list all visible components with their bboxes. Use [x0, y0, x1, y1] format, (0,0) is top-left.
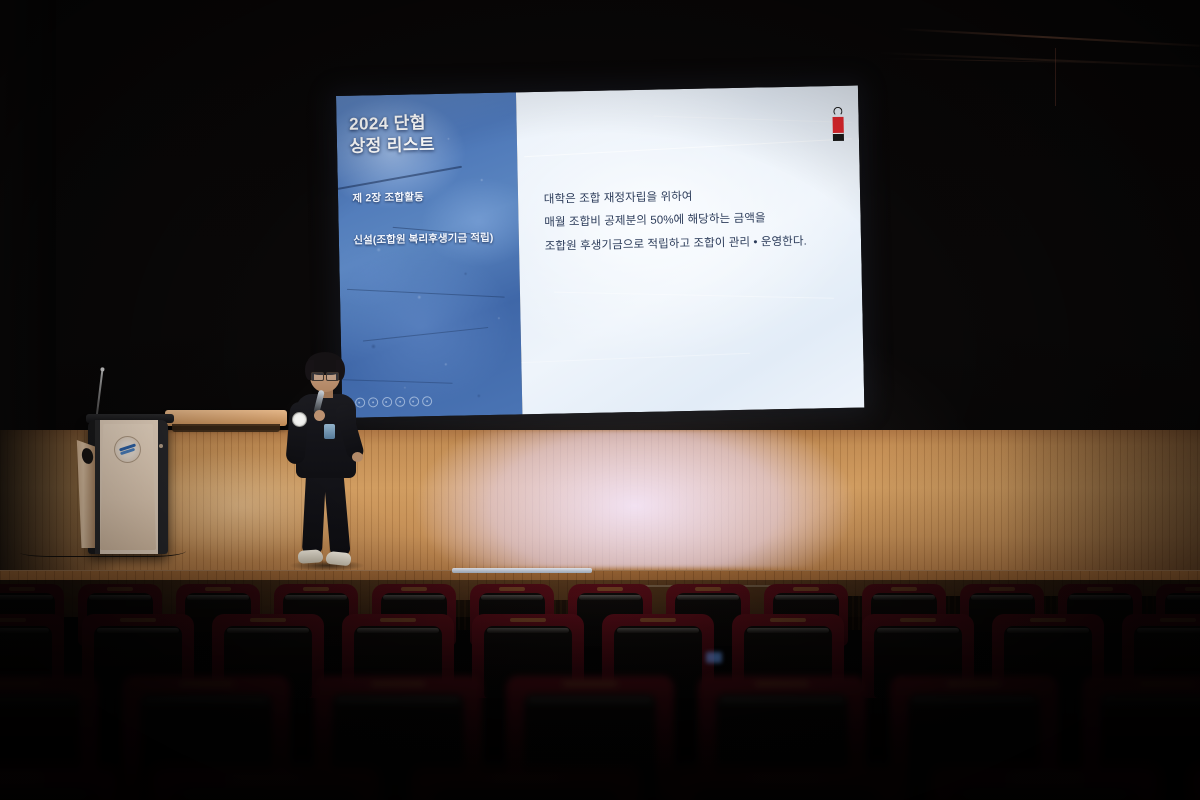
eraser-icon[interactable]: [395, 397, 405, 407]
lectern: [60, 392, 240, 554]
presenter-shoe: [325, 551, 351, 567]
slide-surface: 2024 단협 상정 리스트 제 2장 조합활동 신설(조합원 복리후생기금 적…: [336, 86, 864, 418]
stage-floor-mic: [452, 568, 592, 573]
presenter-shoe: [298, 549, 324, 564]
presenter-leg: [323, 471, 350, 556]
presenter-hand: [352, 452, 363, 462]
lectern-knob: [159, 444, 163, 448]
stage-light-pool: [400, 430, 870, 568]
highlighter-icon[interactable]: [382, 397, 392, 407]
floor-shadow-right: [1000, 430, 1200, 582]
audience-seats: [0, 580, 1200, 800]
seating-vignette: [0, 580, 1200, 800]
university-emblem: [114, 436, 141, 463]
menu-icon[interactable]: [422, 396, 432, 406]
slide-title: 2024 단협 상정 리스트: [349, 112, 435, 159]
screen-glow: [706, 652, 722, 663]
eyeglasses: [311, 372, 339, 379]
logo-arc: [833, 107, 842, 116]
logo-red-bar: [832, 117, 843, 133]
rigging-cable: [1055, 48, 1056, 106]
slide-chapter-label: 제 2장 조합활동: [352, 189, 424, 205]
projection-screen: 2024 단협 상정 리스트 제 2장 조합활동 신설(조합원 복리후생기금 적…: [336, 86, 864, 418]
presenter: [284, 352, 370, 574]
pointer-icon[interactable]: [409, 397, 419, 407]
paper-texture-line: [554, 291, 834, 298]
paper-texture-line: [516, 353, 750, 364]
paper-texture-line: [524, 139, 852, 158]
paper-texture-line: [653, 115, 851, 122]
presenter-hand: [314, 410, 325, 421]
slide-item-label: 신설(조합원 복리후생기금 적립): [353, 230, 493, 248]
logo-base: [832, 133, 843, 141]
organization-logo-icon: [832, 107, 844, 141]
power-cable: [20, 546, 100, 557]
side-desk-underside: [172, 424, 280, 432]
slide-body-panel: 대학은 조합 재정자립을 위하여 매월 조합비 공제분의 50%에 해당하는 금…: [516, 86, 864, 415]
auditorium-scene: 2024 단협 상정 리스트 제 2장 조합활동 신설(조합원 복리후생기금 적…: [0, 0, 1200, 800]
slide-body-text: 대학은 조합 재정자립을 위하여 매월 조합비 공제분의 50%에 해당하는 금…: [544, 183, 808, 259]
power-cable: [96, 542, 186, 557]
chest-badge: [324, 424, 335, 439]
presenter-leg: [302, 472, 326, 555]
stage-curtain: [0, 0, 56, 470]
sleeve-patch: [292, 412, 307, 427]
